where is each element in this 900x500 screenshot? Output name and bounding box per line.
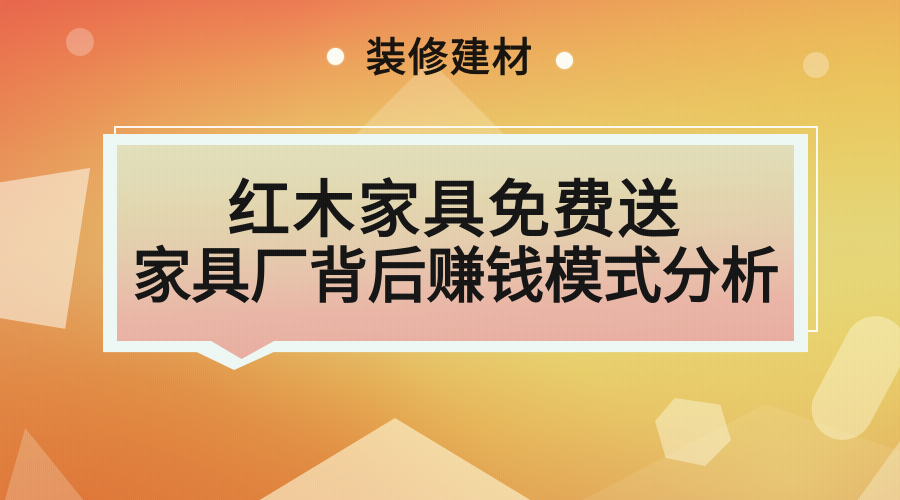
banner-topic-row: 装修建材: [0, 26, 900, 90]
dot-icon: [327, 48, 344, 65]
dot-icon: [556, 52, 573, 69]
promo-banner: 装修建材 红木家具免费送 家具厂背后赚钱模式分析: [0, 0, 900, 500]
page-title: 装修建材: [366, 38, 534, 78]
speech-bubble-body: [117, 145, 794, 359]
